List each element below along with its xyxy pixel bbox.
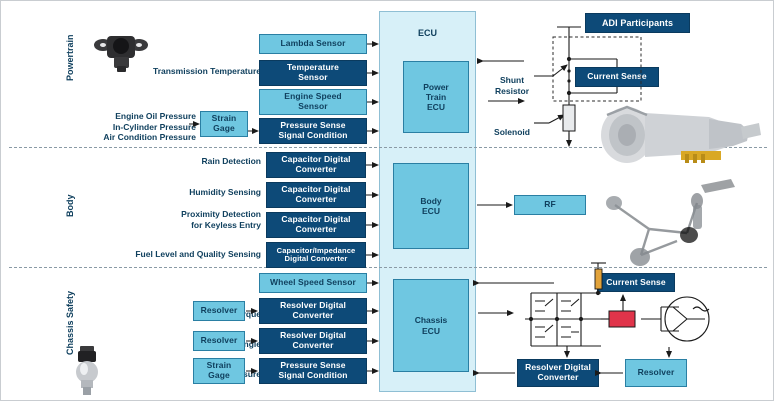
block-temperature-sensor[interactable]: Temperature Sensor [259, 60, 367, 86]
block-capacitor-digital-converter-rain[interactable]: Capacitor Digital Converter [266, 152, 366, 178]
block-capacitor-impedance-digital-converter[interactable]: Capacitor/Impedance Digital Converter [266, 242, 366, 268]
block-engine-speed-sensor[interactable]: Engine Speed Sensor [259, 89, 367, 115]
section-label-body: Body [65, 183, 75, 229]
ecu-column-title: ECU [379, 28, 476, 38]
adi-participants-badge[interactable]: ADI Participants [585, 13, 690, 33]
suspension-linkage-photo [601, 179, 761, 267]
block-resolver-digital-converter-chassis[interactable]: Resolver Digital Converter [517, 359, 599, 387]
automotive-ecu-block-diagram: ECU Power Train ECU Body ECU Chassis ECU… [0, 0, 774, 401]
block-resolver-steering-torque[interactable]: Resolver [193, 301, 245, 321]
ecu-block-body-label: Body ECU [420, 196, 441, 216]
ecu-block-body[interactable]: Body ECU [393, 163, 469, 249]
label-proximity-detection: Proximity Detection for Keyless Entry [141, 209, 261, 230]
label-transmission-temperature: Transmission Temperature [131, 66, 261, 77]
section-separator-body-chassis [9, 267, 767, 268]
block-pressure-sense-signal-condition-chassis[interactable]: Pressure Sense Signal Condition [259, 358, 367, 384]
label-humidity-sensing: Humidity Sensing [141, 187, 261, 198]
ecu-block-chassis-label: Chassis ECU [415, 315, 448, 335]
block-capacitor-digital-converter-proximity[interactable]: Capacitor Digital Converter [266, 212, 366, 238]
label-solenoid: Solenoid [488, 127, 536, 138]
block-resolver-digital-converter-torque[interactable]: Resolver Digital Converter [259, 298, 367, 324]
block-lambda-sensor[interactable]: Lambda Sensor [259, 34, 367, 54]
block-current-sense-powertrain[interactable]: Current Sense [575, 67, 659, 87]
ecu-block-chassis[interactable]: Chassis ECU [393, 279, 469, 372]
ecu-block-powertrain-label: Power Train ECU [423, 82, 449, 113]
adi-participants-label: ADI Participants [602, 18, 673, 28]
block-strain-gage-chassis[interactable]: Strain Gage [193, 358, 245, 384]
automatic-transmission-photo [581, 99, 766, 165]
block-current-sense-chassis[interactable]: Current Sense [597, 273, 675, 292]
label-rain-detection: Rain Detection [141, 156, 261, 167]
block-wheel-speed-sensor[interactable]: Wheel Speed Sensor [259, 273, 367, 293]
label-fuel-level-quality-sensing: Fuel Level and Quality Sensing [111, 249, 261, 260]
block-capacitor-digital-converter-humidity[interactable]: Capacitor Digital Converter [266, 182, 366, 208]
block-rf[interactable]: RF [514, 195, 586, 215]
block-resolver-motor-feedback[interactable]: Resolver [625, 359, 687, 387]
block-pressure-sense-signal-condition-powertrain[interactable]: Pressure Sense Signal Condition [259, 118, 367, 144]
block-resolver-digital-converter-angle[interactable]: Resolver Digital Converter [259, 328, 367, 354]
block-resolver-steering-angle[interactable]: Resolver [193, 331, 245, 351]
ecu-block-powertrain[interactable]: Power Train ECU [403, 61, 469, 133]
label-pressure-inputs: Engine Oil Pressure In-Cylinder Pressure… [96, 111, 196, 143]
block-strain-gage-powertrain[interactable]: Strain Gage [200, 111, 248, 137]
label-shunt-resistor: Shunt Resistor [488, 75, 536, 96]
brake-pressure-sensor-photo [74, 346, 100, 396]
section-label-powertrain: Powertrain [65, 23, 75, 93]
